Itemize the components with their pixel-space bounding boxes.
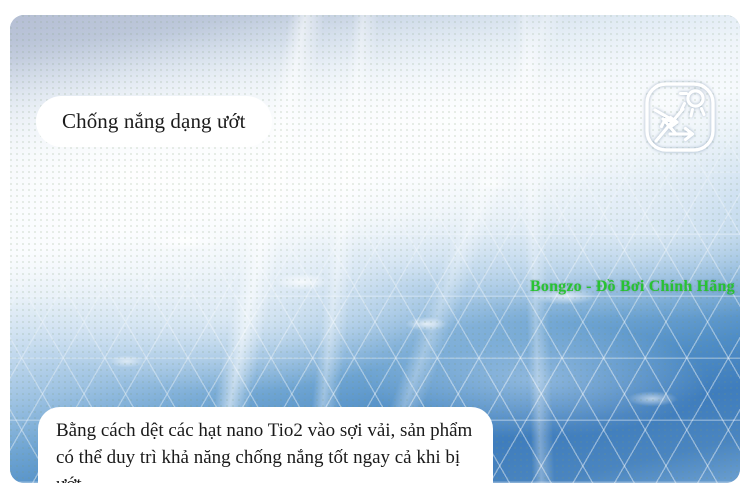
feature-description-card: Bằng cách dệt các hạt nano Tio2 vào sợi … [38, 407, 493, 483]
page-root: Chống nắng dạng ướt Bongzo - Đồ Bơi Chín… [0, 0, 750, 497]
sun-protection-icon [643, 79, 717, 155]
feature-description-text: Bằng cách dệt các hạt nano Tio2 vào sợi … [56, 420, 472, 483]
brand-watermark: Bongzo - Đồ Bơi Chính Hãng [530, 278, 735, 296]
product-feature-image-card: Chống nắng dạng ướt Bongzo - Đồ Bơi Chín… [10, 15, 740, 483]
feature-badge: Chống nắng dạng ướt [36, 96, 272, 147]
feature-badge-label: Chống nắng dạng ướt [62, 109, 246, 134]
